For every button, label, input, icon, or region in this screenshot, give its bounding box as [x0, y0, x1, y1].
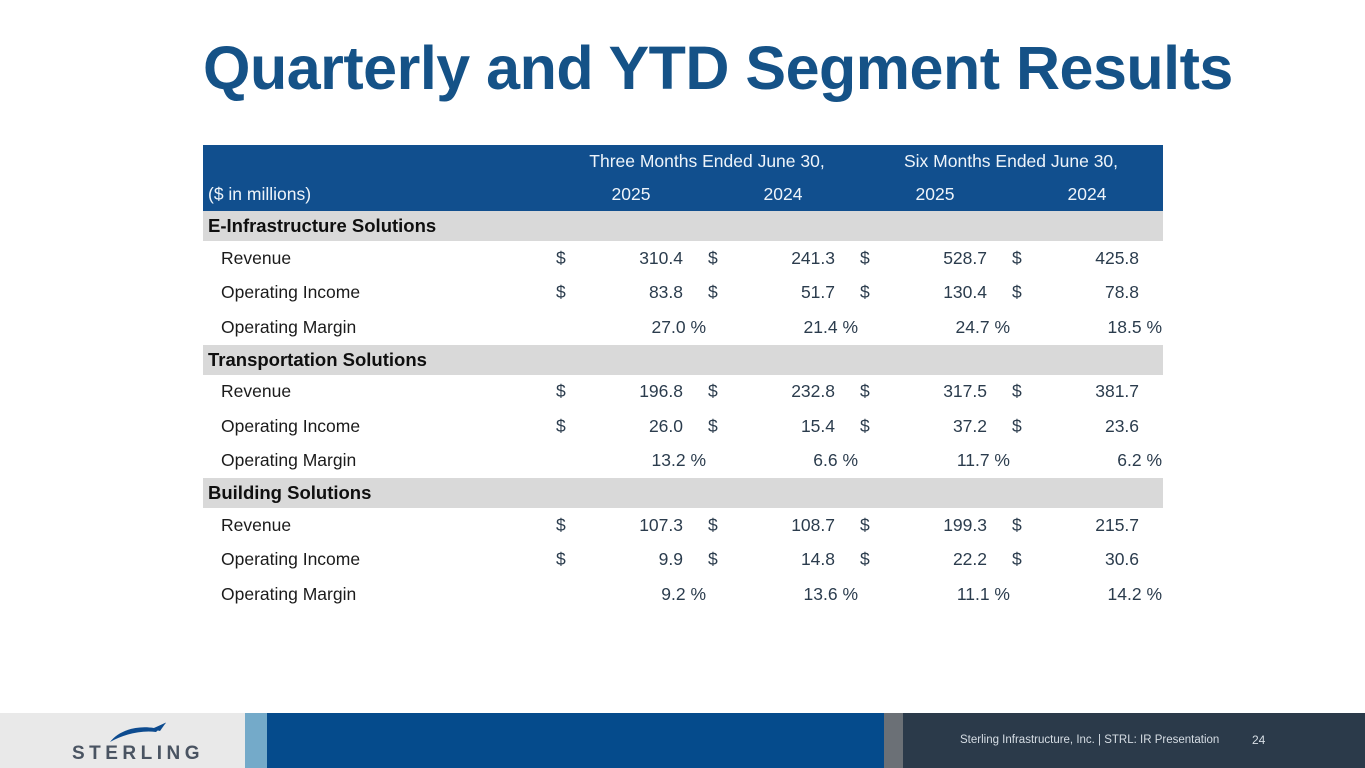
header-spacer [203, 145, 555, 178]
footer-divider [884, 713, 903, 768]
segment-results-table: Three Months Ended June 30, Six Months E… [203, 145, 1163, 612]
value-y2025: 22.2 [887, 543, 1011, 578]
currency-symbol: $ [707, 375, 735, 410]
value-y2025: 37.2 [887, 409, 1011, 444]
value-y2024: 30.6 [1039, 543, 1163, 578]
value-q2024: 13.6 % [735, 577, 859, 612]
footer-accent-blue [267, 713, 884, 768]
currency-symbol: $ [707, 276, 735, 311]
currency-symbol: $ [859, 276, 887, 311]
table-row: Operating Income$26.0$15.4$37.2$23.6 [203, 409, 1163, 444]
currency-symbol: $ [859, 409, 887, 444]
section-name: Building Solutions [203, 482, 1163, 504]
footer-accent-lightblue [245, 713, 267, 768]
currency-symbol: $ [1011, 543, 1039, 578]
header-units-cell: ($ in millions) [203, 178, 555, 211]
page-title: Quarterly and YTD Segment Results [203, 36, 1163, 100]
value-q2024: 14.8 [735, 543, 859, 578]
currency-symbol: $ [707, 543, 735, 578]
currency-symbol [707, 310, 735, 345]
table-section-header: Building Solutions [203, 478, 1163, 508]
table-row: Revenue$196.8$232.8$317.5$381.7 [203, 375, 1163, 410]
row-label: Operating Margin [203, 444, 555, 479]
footer-logo-band: STERLING [0, 713, 245, 768]
value-q2024: 15.4 [735, 409, 859, 444]
value-y2025: 130.4 [887, 276, 1011, 311]
section-name: E-Infrastructure Solutions [203, 215, 1163, 237]
header-year-y-2024: 2024 [1011, 178, 1163, 211]
value-y2024: 6.2 % [1039, 444, 1163, 479]
sterling-wordmark: STERLING [58, 743, 218, 765]
value-q2024: 108.7 [735, 508, 859, 543]
section-name: Transportation Solutions [203, 349, 1163, 371]
value-q2024: 21.4 % [735, 310, 859, 345]
value-q2025: 9.9 [583, 543, 707, 578]
value-q2024: 51.7 [735, 276, 859, 311]
table-section-header: Transportation Solutions [203, 345, 1163, 375]
header-group-quarter: Three Months Ended June 30, [555, 145, 859, 178]
value-y2024: 425.8 [1039, 241, 1163, 276]
value-y2025: 528.7 [887, 241, 1011, 276]
value-y2025: 11.1 % [887, 577, 1011, 612]
footer-note: Sterling Infrastructure, Inc. | STRL: IR… [960, 713, 1219, 768]
currency-symbol: $ [1011, 508, 1039, 543]
header-group-ytd: Six Months Ended June 30, [859, 145, 1163, 178]
currency-symbol: $ [555, 276, 583, 311]
currency-symbol: $ [859, 375, 887, 410]
currency-symbol [1011, 577, 1039, 612]
section-header-cell: E-Infrastructure Solutions [203, 211, 1163, 241]
currency-symbol: $ [859, 543, 887, 578]
slide-footer: STERLING Sterling Infrastructure, Inc. |… [0, 713, 1365, 768]
currency-symbol [555, 444, 583, 479]
value-q2025: 196.8 [583, 375, 707, 410]
row-label: Revenue [203, 375, 555, 410]
value-y2025: 24.7 % [887, 310, 1011, 345]
currency-symbol: $ [1011, 241, 1039, 276]
currency-symbol: $ [1011, 276, 1039, 311]
row-label: Operating Income [203, 543, 555, 578]
section-header-cell: Transportation Solutions [203, 345, 1163, 375]
row-label: Operating Margin [203, 310, 555, 345]
row-label: Revenue [203, 508, 555, 543]
currency-symbol: $ [555, 409, 583, 444]
value-q2024: 241.3 [735, 241, 859, 276]
currency-symbol: $ [555, 241, 583, 276]
table-row: Operating Income$9.9$14.8$22.2$30.6 [203, 543, 1163, 578]
currency-symbol: $ [555, 543, 583, 578]
currency-symbol [555, 577, 583, 612]
currency-symbol [859, 310, 887, 345]
table-row: Operating Margin9.2 %13.6 %11.1 %14.2 % [203, 577, 1163, 612]
currency-symbol: $ [555, 375, 583, 410]
row-label: Operating Margin [203, 577, 555, 612]
currency-symbol: $ [707, 241, 735, 276]
currency-symbol [1011, 444, 1039, 479]
value-y2024: 78.8 [1039, 276, 1163, 311]
table-header-groups: Three Months Ended June 30, Six Months E… [203, 145, 1163, 178]
value-q2024: 6.6 % [735, 444, 859, 479]
footer-page-number: 24 [1252, 713, 1265, 768]
section-header-cell: Building Solutions [203, 478, 1163, 508]
table-row: Revenue$107.3$108.7$199.3$215.7 [203, 508, 1163, 543]
currency-symbol [859, 444, 887, 479]
header-year-q-2024: 2024 [707, 178, 859, 211]
value-q2025: 26.0 [583, 409, 707, 444]
currency-symbol [859, 577, 887, 612]
value-y2024: 381.7 [1039, 375, 1163, 410]
currency-symbol: $ [1011, 375, 1039, 410]
table-row: Operating Margin13.2 %6.6 %11.7 %6.2 % [203, 444, 1163, 479]
value-q2024: 232.8 [735, 375, 859, 410]
table-row: Operating Margin27.0 %21.4 %24.7 %18.5 % [203, 310, 1163, 345]
currency-symbol [707, 444, 735, 479]
header-year-y-2025: 2025 [859, 178, 1011, 211]
currency-symbol: $ [707, 409, 735, 444]
value-y2024: 14.2 % [1039, 577, 1163, 612]
value-q2025: 9.2 % [583, 577, 707, 612]
value-q2025: 310.4 [583, 241, 707, 276]
currency-symbol [707, 577, 735, 612]
header-units-label: ($ in millions) [203, 184, 555, 205]
value-y2025: 317.5 [887, 375, 1011, 410]
currency-symbol: $ [859, 508, 887, 543]
value-q2025: 107.3 [583, 508, 707, 543]
currency-symbol [1011, 310, 1039, 345]
value-y2024: 18.5 % [1039, 310, 1163, 345]
currency-symbol: $ [555, 508, 583, 543]
currency-symbol [555, 310, 583, 345]
table-body: Three Months Ended June 30, Six Months E… [203, 145, 1163, 612]
value-y2025: 11.7 % [887, 444, 1011, 479]
value-q2025: 83.8 [583, 276, 707, 311]
row-label: Revenue [203, 241, 555, 276]
table-row: Revenue$310.4$241.3$528.7$425.8 [203, 241, 1163, 276]
table-header-years: ($ in millions) 2025 2024 2025 2024 [203, 178, 1163, 211]
header-year-q-2025: 2025 [555, 178, 707, 211]
currency-symbol: $ [1011, 409, 1039, 444]
table-section-header: E-Infrastructure Solutions [203, 211, 1163, 241]
value-y2024: 215.7 [1039, 508, 1163, 543]
value-y2024: 23.6 [1039, 409, 1163, 444]
value-y2025: 199.3 [887, 508, 1011, 543]
row-label: Operating Income [203, 276, 555, 311]
value-q2025: 13.2 % [583, 444, 707, 479]
table-row: Operating Income$83.8$51.7$130.4$78.8 [203, 276, 1163, 311]
row-label: Operating Income [203, 409, 555, 444]
currency-symbol: $ [859, 241, 887, 276]
value-q2025: 27.0 % [583, 310, 707, 345]
sterling-logo: STERLING [58, 721, 218, 765]
currency-symbol: $ [707, 508, 735, 543]
